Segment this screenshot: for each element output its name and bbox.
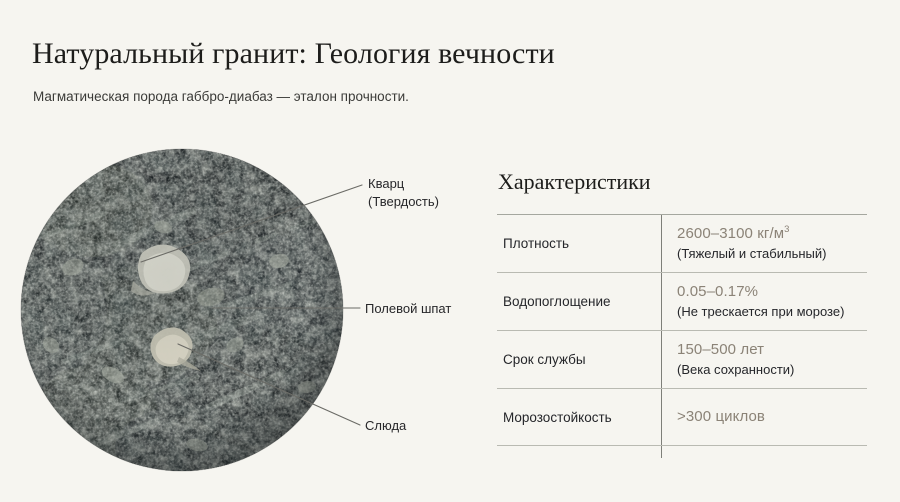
callout-quartz-sub: (Твердость) (368, 193, 439, 211)
callout-label-quartz: Кварц (Твердость) (368, 175, 439, 210)
property-value-cell: 2600–3100 кг/м3 (Тяжелый и стабильный) (661, 215, 867, 272)
page-title: Натуральный гранит: Геология вечности (32, 36, 555, 72)
property-value: 2600–3100 кг/м3 (677, 224, 863, 244)
property-value-text: 0.05–0.17% (677, 283, 758, 300)
callout-label-mica: Слюда (365, 417, 406, 435)
property-value-cell: 150–500 лет (Века сохранности) (661, 331, 867, 388)
table-divider-tail (661, 446, 662, 458)
property-name: Водопоглощение (497, 273, 661, 330)
specimen-area: Кварц (Твердость) Полевой шпат Слюда (0, 130, 480, 490)
callout-quartz-title: Кварц (368, 176, 404, 191)
table-row: Морозостойкость >300 циклов (497, 389, 867, 446)
property-value: >300 циклов (677, 407, 863, 427)
table-row: Плотность 2600–3100 кг/м3 (Тяжелый и ста… (497, 215, 867, 273)
table-row: Срок службы 150–500 лет (Века сохранност… (497, 331, 867, 389)
callout-mica-title: Слюда (365, 418, 406, 433)
granite-sample-disc (21, 149, 343, 471)
property-name: Плотность (497, 215, 661, 272)
property-note: (Не трескается при морозе) (677, 303, 863, 321)
callout-feldspar-title: Полевой шпат (365, 301, 451, 316)
property-note: (Тяжелый и стабильный) (677, 245, 863, 263)
property-value-cell: 0.05–0.17% (Не трескается при морозе) (661, 273, 867, 330)
property-value-text: >300 циклов (677, 408, 765, 425)
slide-root: Натуральный гранит: Геология вечности Ма… (0, 0, 900, 502)
property-value-superscript: 3 (784, 224, 789, 235)
property-name: Срок службы (497, 331, 661, 388)
property-value-cell: >300 циклов (661, 389, 867, 445)
property-value: 150–500 лет (677, 340, 863, 360)
property-name: Морозостойкость (497, 389, 661, 445)
property-value: 0.05–0.17% (677, 282, 863, 302)
callout-label-feldspar: Полевой шпат (365, 300, 451, 318)
properties-table: Плотность 2600–3100 кг/м3 (Тяжелый и ста… (497, 214, 867, 446)
property-note: (Века сохранности) (677, 361, 863, 379)
table-row: Водопоглощение 0.05–0.17% (Не трескается… (497, 273, 867, 331)
property-value-text: 150–500 лет (677, 341, 764, 358)
property-value-text: 2600–3100 кг/м (677, 225, 784, 242)
properties-heading: Характеристики (498, 168, 869, 196)
page-subtitle: Магматическая порода габбро-диабаз — эта… (33, 88, 409, 106)
properties-panel: Характеристики Плотность 2600–3100 кг/м3… (497, 168, 869, 446)
